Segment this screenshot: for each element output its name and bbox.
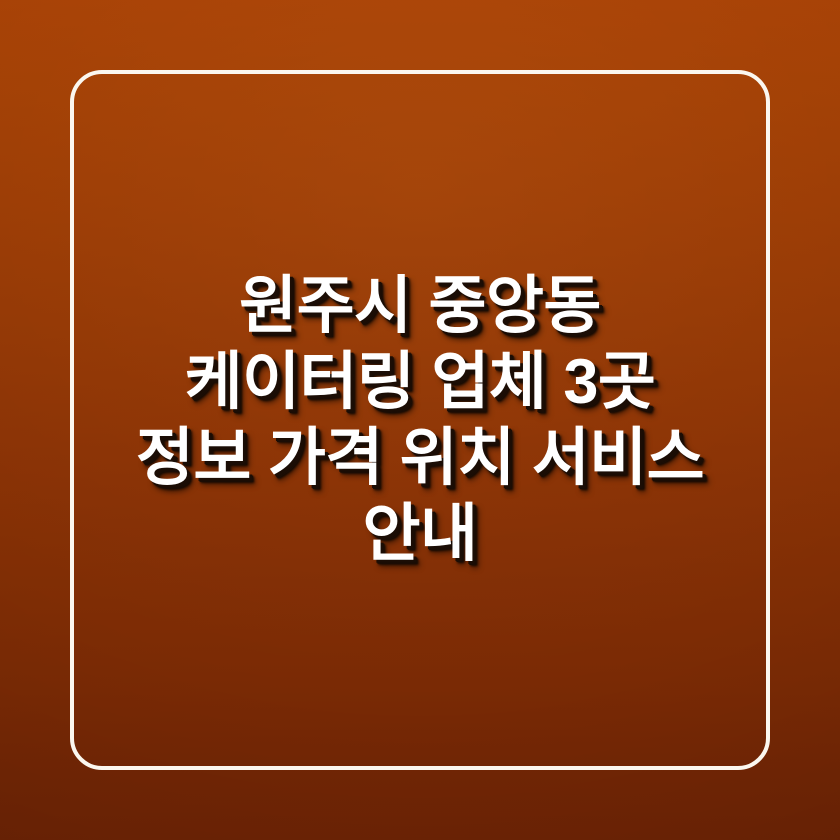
headline-text-block: 원주시 중앙동 케이터링 업체 3곳 정보 가격 위치 서비스 안내 [0,0,840,840]
poster-canvas: 원주시 중앙동 케이터링 업체 3곳 정보 가격 위치 서비스 안내 [0,0,840,840]
headline-line-4: 안내 [86,496,754,572]
headline-line-1: 원주시 중앙동 [86,268,754,344]
headline-line-3: 정보 가격 위치 서비스 [86,420,754,496]
headline-line-2: 케이터링 업체 3곳 [86,344,754,420]
